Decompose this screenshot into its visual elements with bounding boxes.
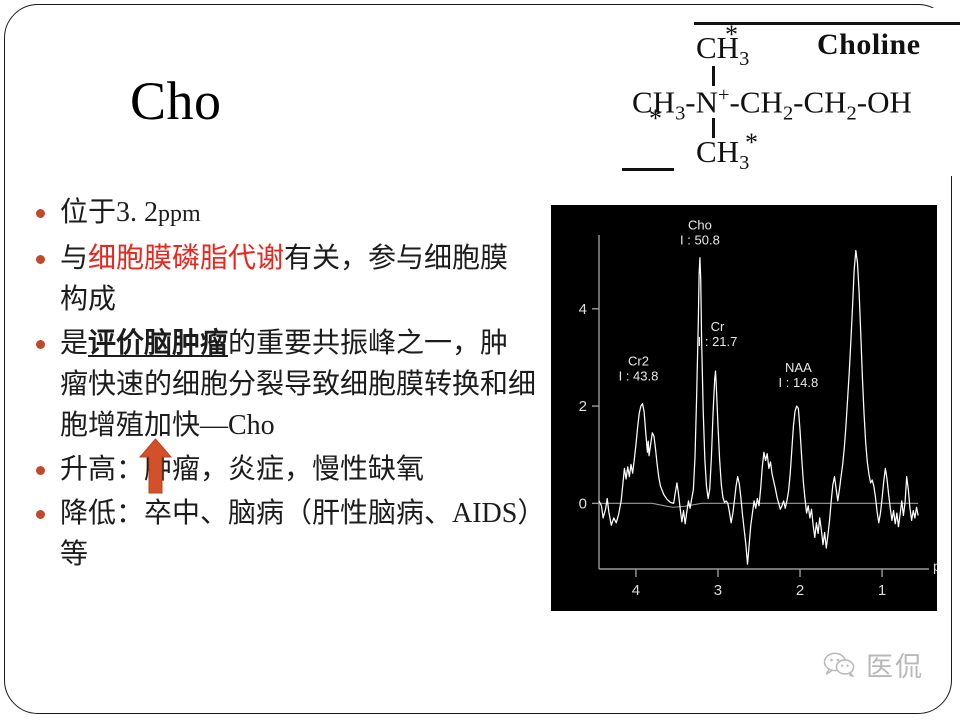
bullet-dot-icon: [36, 209, 45, 218]
svg-text:Cr2: Cr2: [628, 354, 649, 369]
svg-text:Cr: Cr: [711, 319, 725, 334]
svg-text:I : 14.8: I : 14.8: [779, 375, 819, 390]
up-arrow-icon: [139, 438, 172, 494]
bullet-location-value: 3. 2: [116, 197, 158, 228]
list-item: 升高：肿瘤，炎症，慢性缺氧: [36, 449, 536, 490]
chem-group-bottom: CH3: [696, 134, 749, 175]
wechat-icon: [823, 652, 857, 678]
list-item: 降低：卒中、脑病（肝性脑病、AIDS）等: [36, 493, 536, 575]
asterisk-top-icon: *: [725, 22, 738, 48]
svg-text:ppm: ppm: [933, 558, 937, 574]
chem-group-top: CH3: [696, 30, 749, 71]
choline-structure-image: Choline CH3 * CH3-N+-CH2-CH2-OH * CH3 *: [622, 8, 960, 176]
list-item: 与细胞膜磷脂代谢有关，参与细胞膜构成: [36, 238, 536, 320]
bullet-decreased-text: 降低：卒中、脑病（肝性脑病、AIDS）等: [60, 493, 536, 575]
choline-compound-name: Choline: [817, 28, 921, 62]
bond-upper: [712, 66, 715, 86]
spectrum-peak-labels: ChoI : 50.8CrI : 21.7Cr2I : 43.8NAAI : 1…: [619, 218, 819, 390]
asterisk-bottom-icon: *: [745, 130, 758, 156]
svg-text:NAA: NAA: [785, 360, 812, 375]
bullet-location-text: 位于3. 2ppm: [60, 192, 536, 235]
watermark: 医侃: [823, 645, 924, 684]
bullet-dot-icon: [36, 255, 45, 264]
mrs-spectrum-panel: ChoI : 50.8CrI : 21.7Cr2I : 43.8NAAI : 1…: [551, 205, 937, 611]
watermark-text: 医侃: [866, 645, 924, 684]
svg-text:3: 3: [714, 582, 722, 599]
bullet-dot-icon: [36, 510, 45, 519]
svg-text:Cho: Cho: [688, 218, 712, 233]
structure-bottom-rule: [622, 168, 674, 171]
bullet-membrane-text: 与细胞膜磷脂代谢有关，参与细胞膜构成: [60, 238, 536, 320]
bullet-elevated-text: 升高：肿瘤，炎症，慢性缺氧: [60, 449, 536, 490]
bullet-tumor-text: 是评价脑肿瘤的重要共振峰之一，肿瘤快速的细胞分裂导致细胞膜转换和细胞增殖加快—C…: [60, 323, 536, 446]
spectrum-tick-labels: 4204321ppm: [579, 301, 937, 599]
svg-text:0: 0: [579, 495, 587, 512]
svg-text:4: 4: [632, 582, 640, 599]
chem-main-chain: CH3-N+-CH2-CH2-OH: [632, 84, 912, 126]
svg-text:2: 2: [796, 582, 804, 599]
bullet-list: 位于3. 2ppm 与细胞膜磷脂代谢有关，参与细胞膜构成 是评价脑肿瘤的重要共振…: [36, 192, 536, 578]
bullet-dot-icon: [36, 466, 45, 475]
svg-text:2: 2: [579, 398, 587, 415]
bullet-location-unit: ppm: [158, 201, 201, 227]
list-item: 位于3. 2ppm: [36, 192, 536, 235]
bullet-dot-icon: [36, 340, 45, 349]
svg-text:I : 50.8: I : 50.8: [680, 233, 720, 248]
svg-text:1: 1: [878, 582, 886, 599]
mrs-spectrum-chart: ChoI : 50.8CrI : 21.7Cr2I : 43.8NAAI : 1…: [551, 205, 937, 611]
list-item: 是评价脑肿瘤的重要共振峰之一，肿瘤快速的细胞分裂导致细胞膜转换和细胞增殖加快—C…: [36, 323, 536, 446]
bullet-membrane-prefix: 与: [60, 243, 88, 274]
bullet-tumor-prefix: 是: [60, 328, 88, 359]
svg-text:I : 21.7: I : 21.7: [698, 334, 738, 349]
bullet-tumor-highlight: 评价脑肿瘤: [88, 328, 228, 359]
asterisk-left-icon: *: [649, 106, 662, 132]
bullet-location-prefix: 位于: [60, 197, 116, 228]
svg-text:I : 43.8: I : 43.8: [619, 369, 659, 384]
svg-text:4: 4: [579, 301, 587, 318]
page-title: Cho: [130, 72, 222, 130]
bullet-membrane-highlight: 细胞膜磷脂代谢: [88, 243, 284, 274]
spectrum-trace: [599, 250, 918, 564]
